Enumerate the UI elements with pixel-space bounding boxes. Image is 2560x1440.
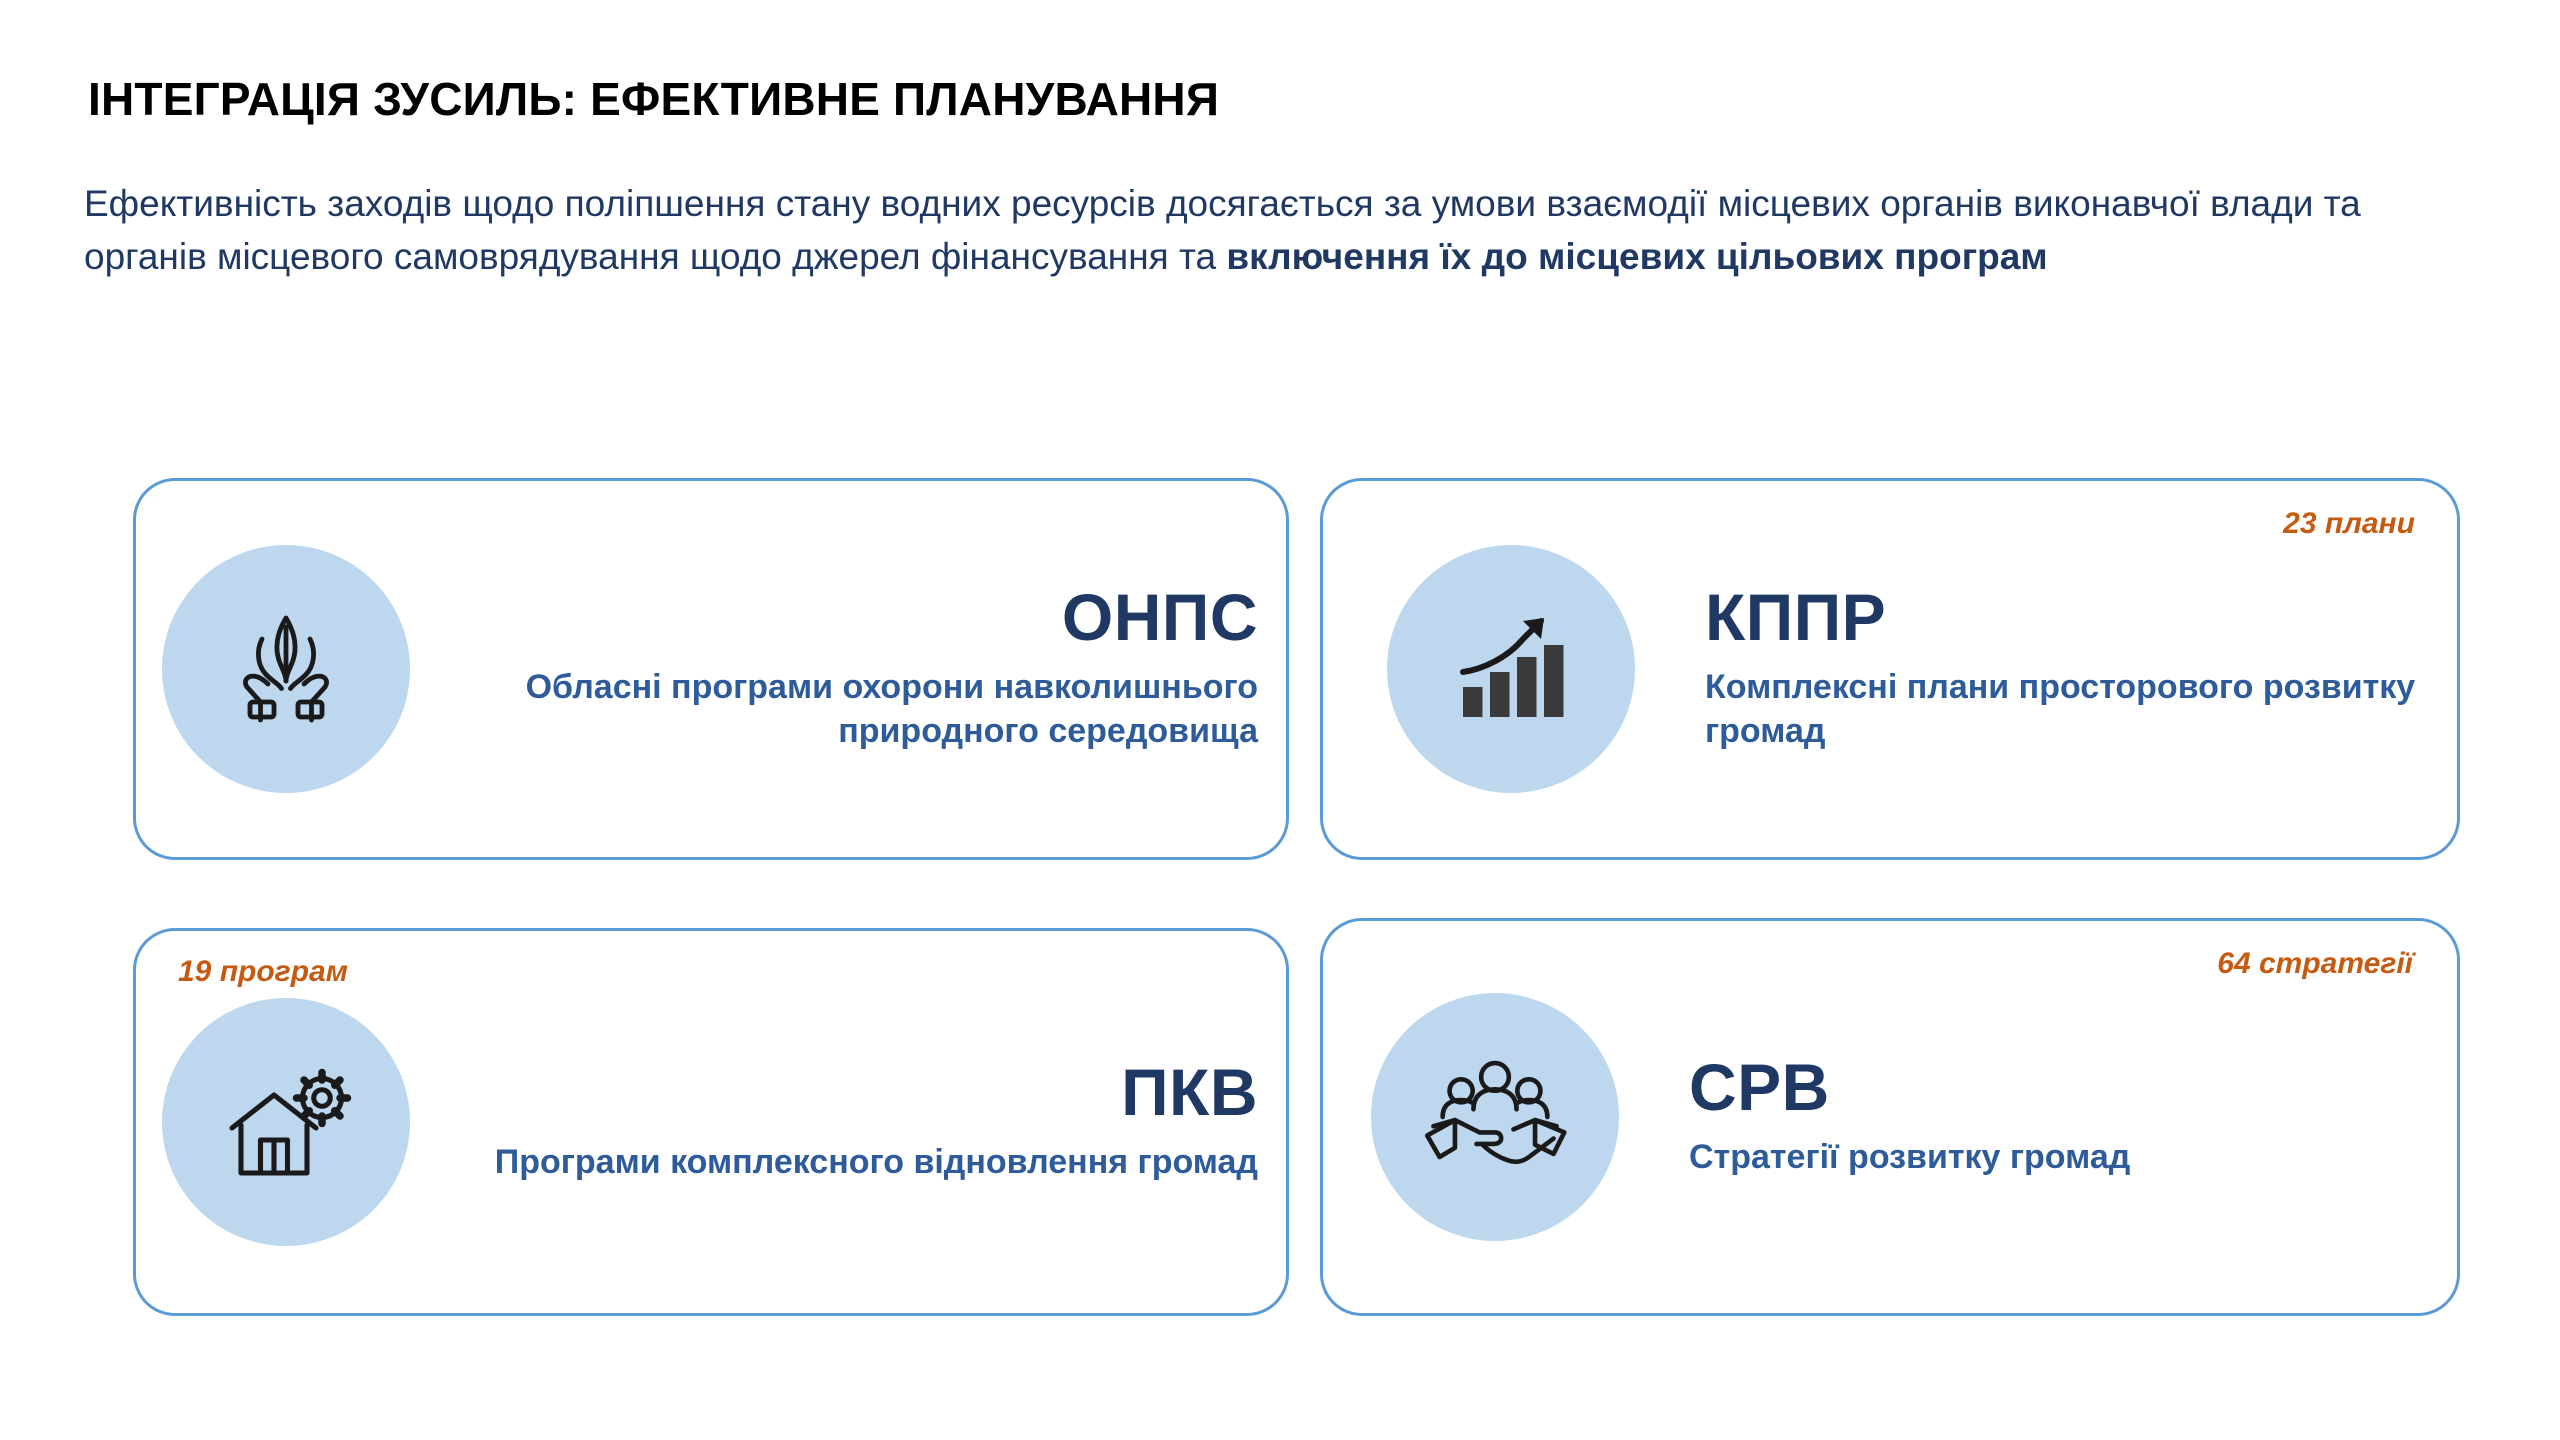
card-onps-description: Обласні програми охорони навколишнього п… (480, 666, 1258, 753)
house-gear-icon (162, 998, 410, 1246)
card-onps-text: ОНПС Обласні програми охорони навколишнь… (480, 584, 1286, 753)
card-pkv-row: ПКВ Програми комплексного відновлення гр… (136, 931, 1286, 1313)
card-onps-row: ОНПС Обласні програми охорони навколишнь… (136, 481, 1286, 857)
card-kppr-row: КППР Комплексні плани просторового розви… (1323, 481, 2457, 857)
card-pkv-description: Програми комплексного відновлення громад (495, 1141, 1258, 1185)
handshake-people-icon (1371, 993, 1619, 1241)
slide-canvas: ІНТЕГРАЦІЯ ЗУСИЛЬ: ЕФЕКТИВНЕ ПЛАНУВАННЯ … (0, 0, 2560, 1440)
card-kppr-description: Комплексні плани просторового розвитку г… (1705, 666, 2457, 753)
growth-bar-chart-icon (1387, 545, 1635, 793)
card-srv-row: СРВ Стратегії розвитку громад (1323, 921, 2457, 1313)
card-kppr-text: КППР Комплексні плани просторового розви… (1669, 584, 2457, 753)
card-pkv[interactable]: 19 програм ПКВ Програми комплексного від… (133, 928, 1289, 1316)
card-srv-acronym: СРВ (1689, 1054, 1830, 1120)
card-srv-text: СРВ Стратегії розвитку громад (1653, 1054, 2457, 1180)
intro-paragraph: Ефективність заходів щодо поліпшення ста… (84, 178, 2424, 283)
card-pkv-acronym: ПКВ (1121, 1059, 1258, 1125)
page-title: ІНТЕГРАЦІЯ ЗУСИЛЬ: ЕФЕКТИВНЕ ПЛАНУВАННЯ (88, 72, 1219, 126)
card-srv-description: Стратегії розвитку громад (1689, 1136, 2130, 1180)
paragraph-bold-text: включення їх до місцевих цільових програ… (1226, 236, 2047, 277)
card-srv[interactable]: 64 стратегії (1320, 918, 2460, 1316)
card-kppr[interactable]: 23 плани КППР Комплексні плани просторов… (1320, 478, 2460, 860)
leaf-in-hands-icon (162, 545, 410, 793)
card-onps[interactable]: ОНПС Обласні програми охорони навколишнь… (133, 478, 1289, 860)
card-onps-acronym: ОНПС (1062, 584, 1258, 650)
card-kppr-acronym: КППР (1705, 584, 1886, 650)
card-pkv-text: ПКВ Програми комплексного відновлення гр… (488, 1059, 1286, 1185)
